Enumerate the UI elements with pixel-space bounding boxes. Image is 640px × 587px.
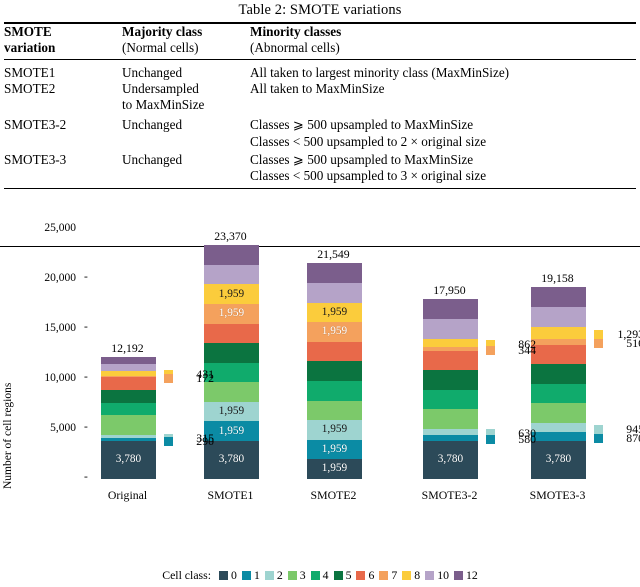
x-axis-label-smote3-2: SMOTE3-2 xyxy=(405,488,495,503)
callout-swatch-icon xyxy=(594,339,603,348)
callout-class-1: 580 xyxy=(486,432,536,447)
legend-item-class-6[interactable]: 6 xyxy=(356,568,374,583)
legend-label: 8 xyxy=(414,568,420,583)
x-axis-label-smote2: SMOTE2 xyxy=(289,488,379,503)
bar-segment-class-7: 1,959 xyxy=(307,322,362,342)
table-row: SMOTE1 Unchanged All taken to largest mi… xyxy=(4,65,636,81)
table-row-cont: Classes < 500 upsampled to 2 × original … xyxy=(4,134,636,150)
table-row-cont: Classes < 500 upsampled to 3 × original … xyxy=(4,168,636,184)
header-majority-sub: (Normal cells) xyxy=(122,40,250,56)
legend-item-class-0[interactable]: 0 xyxy=(219,568,237,583)
legend-swatch-icon xyxy=(311,571,320,580)
row-minority-line2: Classes < 500 upsampled to 3 × original … xyxy=(250,168,636,184)
bar-segment-class-0: 3,780 xyxy=(423,441,478,479)
segment-value-label: 1,959 xyxy=(322,424,347,435)
stacked-bar-chart: Number of cell regions -5,000-10,000-15,… xyxy=(0,189,640,524)
segment-value-label: 1,959 xyxy=(219,406,244,417)
callout-swatch-icon xyxy=(486,346,495,355)
callout-value: 290 xyxy=(180,434,214,449)
legend-swatch-icon xyxy=(454,571,463,580)
callout-swatch-icon xyxy=(486,435,495,444)
table-header-row-main: SMOTE Majority class Minority classes xyxy=(4,24,636,40)
segment-value-label: 1,959 xyxy=(219,308,244,319)
segment-value-label: 3,780 xyxy=(219,454,244,465)
bar-total-label: 19,158 xyxy=(518,271,598,286)
legend-item-class-10[interactable]: 10 xyxy=(425,568,449,583)
table-row: SMOTE3-2 Unchanged Classes ⩾ 500 upsampl… xyxy=(4,117,636,133)
legend-swatch-icon xyxy=(242,571,251,580)
legend-label: 1 xyxy=(254,568,260,583)
legend-item-class-12[interactable]: 12 xyxy=(454,568,478,583)
bar-segment-class-5 xyxy=(531,364,586,384)
bar-segment-class-6 xyxy=(307,342,362,362)
y-axis-tick-label: 5,000 xyxy=(14,422,76,434)
smote-variations-table: SMOTE Majority class Minority classes va… xyxy=(4,24,636,56)
callout-swatch-icon xyxy=(164,437,173,446)
bar-segment-class-7 xyxy=(531,339,586,344)
legend-label: 5 xyxy=(346,568,352,583)
y-axis-tick-label: 15,000 xyxy=(14,322,76,334)
row-majority: Unchanged xyxy=(122,152,250,168)
table-caption: Table 2: SMOTE variations xyxy=(4,0,636,22)
bar-segment-class-3 xyxy=(423,409,478,429)
legend-swatch-icon xyxy=(379,571,388,580)
bar-segment-class-7 xyxy=(101,376,156,378)
row-minority: Classes ⩾ 500 upsampled to MaxMinSize xyxy=(250,152,636,168)
table-row-cont: to MaxMinSize xyxy=(4,97,636,113)
legend-swatch-icon xyxy=(265,571,274,580)
row-minority: All taken to MaxMinSize xyxy=(250,81,636,97)
callout-value: 870 xyxy=(610,431,640,446)
legend-label: 3 xyxy=(300,568,306,583)
bar-segment-class-10 xyxy=(531,307,586,327)
bar-segment-class-2: 1,959 xyxy=(307,420,362,440)
legend-swatch-icon xyxy=(219,571,228,580)
callout-swatch-icon xyxy=(164,374,173,383)
x-axis-label-smote1: SMOTE1 xyxy=(186,488,276,503)
legend-label: 2 xyxy=(277,568,283,583)
bar-segment-class-3 xyxy=(531,403,586,423)
segment-value-label: 1,959 xyxy=(322,326,347,337)
callout-class-7: 516 xyxy=(594,336,640,351)
table-2-smote-variations: Table 2: SMOTE variations SMOTE Majority… xyxy=(0,0,640,189)
segment-value-label: 3,780 xyxy=(116,454,141,465)
callout-value: 344 xyxy=(502,343,536,358)
bar-segment-class-10 xyxy=(101,364,156,371)
callout-class-7: 172 xyxy=(164,371,214,386)
bar-segment-class-5 xyxy=(101,390,156,403)
bar-original: 3,780 xyxy=(100,356,157,480)
segment-value-label: 3,780 xyxy=(546,454,571,465)
row-variation: SMOTE2 xyxy=(4,81,122,97)
row-variation: SMOTE3-3 xyxy=(4,152,122,168)
segment-value-label: 1,959 xyxy=(322,307,347,318)
bar-segment-class-5 xyxy=(307,361,362,381)
bar-segment-class-10 xyxy=(204,265,259,285)
bar-segment-class-5 xyxy=(204,343,259,363)
bar-segment-class-12 xyxy=(101,357,156,364)
bar-segment-class-7: 1,959 xyxy=(204,304,259,324)
bar-segment-class-12 xyxy=(204,245,259,265)
segment-value-label: 1,959 xyxy=(219,289,244,300)
bar-segment-class-6 xyxy=(423,351,478,371)
legend-swatch-icon xyxy=(425,571,434,580)
callout-class-1: 870 xyxy=(594,431,640,446)
y-axis-tick-mark: - xyxy=(84,271,88,283)
row-minority-line2: Classes < 500 upsampled to 2 × original … xyxy=(250,134,636,150)
legend-item-class-5[interactable]: 5 xyxy=(334,568,352,583)
y-axis-tick-label: 20,000 xyxy=(14,272,76,284)
legend-item-class-3[interactable]: 3 xyxy=(288,568,306,583)
y-axis-tick-mark: - xyxy=(84,471,88,483)
callout-swatch-icon xyxy=(594,434,603,443)
bar-segment-class-5 xyxy=(423,370,478,390)
legend-swatch-icon xyxy=(334,571,343,580)
legend-item-class-2[interactable]: 2 xyxy=(265,568,283,583)
bar-segment-class-1: 1,959 xyxy=(307,440,362,460)
bar-total-label: 12,192 xyxy=(88,341,168,356)
bar-segment-class-2 xyxy=(423,429,478,435)
header-minority-sub: (Abnormal cells) xyxy=(250,40,636,56)
callout-class-7: 344 xyxy=(486,343,536,358)
bar-segment-class-8 xyxy=(101,371,156,375)
callout-value: 516 xyxy=(610,336,640,351)
bar-segment-class-7 xyxy=(423,347,478,350)
bar-smote3-2: 3,780 xyxy=(422,298,479,479)
bar-segment-class-8: 1,959 xyxy=(204,284,259,304)
header-majority-main: Majority class xyxy=(122,24,250,40)
bar-segment-class-2 xyxy=(531,423,586,432)
bar-segment-class-12 xyxy=(307,263,362,283)
smote-variations-body: SMOTE1 Unchanged All taken to largest mi… xyxy=(4,65,636,184)
table-row: SMOTE2 Undersampled All taken to MaxMinS… xyxy=(4,81,636,97)
bar-segment-class-0: 1,959 xyxy=(307,459,362,479)
row-majority: Undersampled xyxy=(122,81,250,97)
callout-value: 580 xyxy=(502,432,536,447)
bar-segment-class-2: 1,959 xyxy=(204,402,259,422)
legend-swatch-icon xyxy=(402,571,411,580)
bar-segment-class-1 xyxy=(531,432,586,441)
legend-label: 12 xyxy=(466,568,478,583)
row-variation: SMOTE1 xyxy=(4,65,122,81)
legend-item-class-8[interactable]: 8 xyxy=(402,568,420,583)
bar-segment-class-12 xyxy=(531,287,586,307)
chart-legend: Cell class: 0123456781012 xyxy=(0,568,640,583)
header-smote-sub: variation xyxy=(4,40,122,56)
legend-item-class-7[interactable]: 7 xyxy=(379,568,397,583)
bar-total-label: 21,549 xyxy=(294,247,374,262)
bar-segment-class-0: 3,780 xyxy=(531,441,586,479)
segment-value-label: 1,959 xyxy=(322,444,347,455)
bar-segment-class-6 xyxy=(531,345,586,365)
bar-segment-class-4 xyxy=(531,384,586,404)
y-axis-tick-mark: - xyxy=(84,421,88,433)
bar-segment-class-0: 3,780 xyxy=(101,441,156,479)
bar-segment-class-10 xyxy=(423,319,478,339)
segment-value-label: 1,959 xyxy=(322,463,347,474)
row-majority: Unchanged xyxy=(122,117,250,133)
bar-segment-class-2 xyxy=(101,435,156,438)
bar-segment-class-10 xyxy=(307,283,362,303)
legend-label: 4 xyxy=(323,568,329,583)
row-majority-line2: to MaxMinSize xyxy=(122,97,250,113)
x-axis-label-smote3-3: SMOTE3-3 xyxy=(513,488,603,503)
bar-total-label: 23,370 xyxy=(191,229,271,244)
bar-smote2: 1,9591,9591,9591,9591,959 xyxy=(306,262,363,479)
bar-segment-class-1 xyxy=(101,438,156,441)
y-axis-tick-mark: - xyxy=(84,321,88,333)
row-minority: All taken to largest minority class (Max… xyxy=(250,65,636,81)
legend-title: Cell class: xyxy=(162,568,211,583)
bar-smote3-3: 3,780 xyxy=(530,286,587,479)
callout-value: 172 xyxy=(180,371,214,386)
segment-value-label: 1,959 xyxy=(219,426,244,437)
bar-segment-class-4 xyxy=(101,403,156,415)
callout-class-1: 290 xyxy=(164,434,214,449)
bar-segment-class-6 xyxy=(204,324,259,344)
bar-segment-class-6 xyxy=(101,377,156,390)
legend-label: 6 xyxy=(368,568,374,583)
y-axis-tick-mark: - xyxy=(84,371,88,383)
legend-label: 7 xyxy=(391,568,397,583)
header-smote-main: SMOTE xyxy=(4,24,122,40)
legend-item-class-4[interactable]: 4 xyxy=(311,568,329,583)
bar-segment-class-4 xyxy=(307,381,362,401)
header-minority-main: Minority classes xyxy=(250,24,636,40)
row-majority: Unchanged xyxy=(122,65,250,81)
bar-segment-class-8 xyxy=(423,339,478,348)
bar-segment-class-1 xyxy=(423,435,478,441)
bar-segment-class-12 xyxy=(423,299,478,319)
bar-total-label: 17,950 xyxy=(410,283,490,298)
y-axis-tick-label: 10,000 xyxy=(14,372,76,384)
bar-segment-class-4 xyxy=(423,390,478,410)
segment-value-label: 3,780 xyxy=(438,454,463,465)
bar-segment-class-3 xyxy=(307,401,362,421)
table-header-rule xyxy=(4,59,636,60)
bar-segment-class-8 xyxy=(531,327,586,340)
bar-segment-class-8: 1,959 xyxy=(307,303,362,323)
row-minority: Classes ⩾ 500 upsampled to MaxMinSize xyxy=(250,117,636,133)
y-axis-tick-label: 25,000 xyxy=(14,222,76,234)
table-row: SMOTE3-3 Unchanged Classes ⩾ 500 upsampl… xyxy=(4,152,636,168)
x-axis-label-original: Original xyxy=(83,488,173,503)
legend-swatch-icon xyxy=(356,571,365,580)
row-variation: SMOTE3-2 xyxy=(4,117,122,133)
table-header-row-sub: variation (Normal cells) (Abnormal cells… xyxy=(4,40,636,56)
bar-segment-class-3 xyxy=(101,415,156,435)
y-axis-label: Number of cell regions xyxy=(2,383,14,489)
legend-swatch-icon xyxy=(288,571,297,580)
legend-label: 0 xyxy=(231,568,237,583)
legend-label: 10 xyxy=(437,568,449,583)
legend-item-class-1[interactable]: 1 xyxy=(242,568,260,583)
